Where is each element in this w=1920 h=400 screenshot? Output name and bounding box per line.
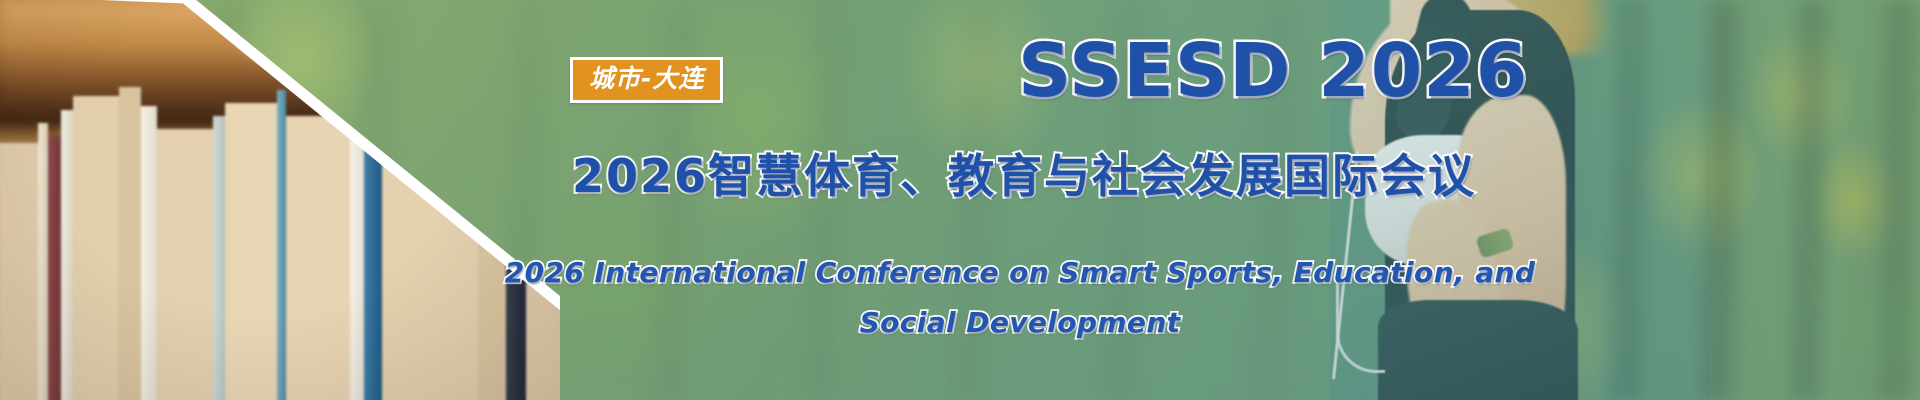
city-badge-inner: 城市-大连 <box>573 60 720 100</box>
city-badge: 城市-大连 <box>570 57 723 103</box>
conference-title-chinese: 2026智慧体育、教育与社会发展国际会议 <box>572 148 1476 204</box>
banner-content: 城市-大连 SSESD 2026 2026智慧体育、教育与社会发展国际会议 20… <box>0 0 1920 400</box>
conference-subtitle-line1: 2026 International Conference on Smart S… <box>0 256 1920 290</box>
city-badge-label: 城市-大连 <box>589 64 704 94</box>
conference-subtitle-line2: Social Development <box>0 306 1920 340</box>
conference-acronym-title: SSESD 2026 <box>1018 29 1528 113</box>
conference-banner: 城市-大连 SSESD 2026 2026智慧体育、教育与社会发展国际会议 20… <box>0 0 1920 400</box>
